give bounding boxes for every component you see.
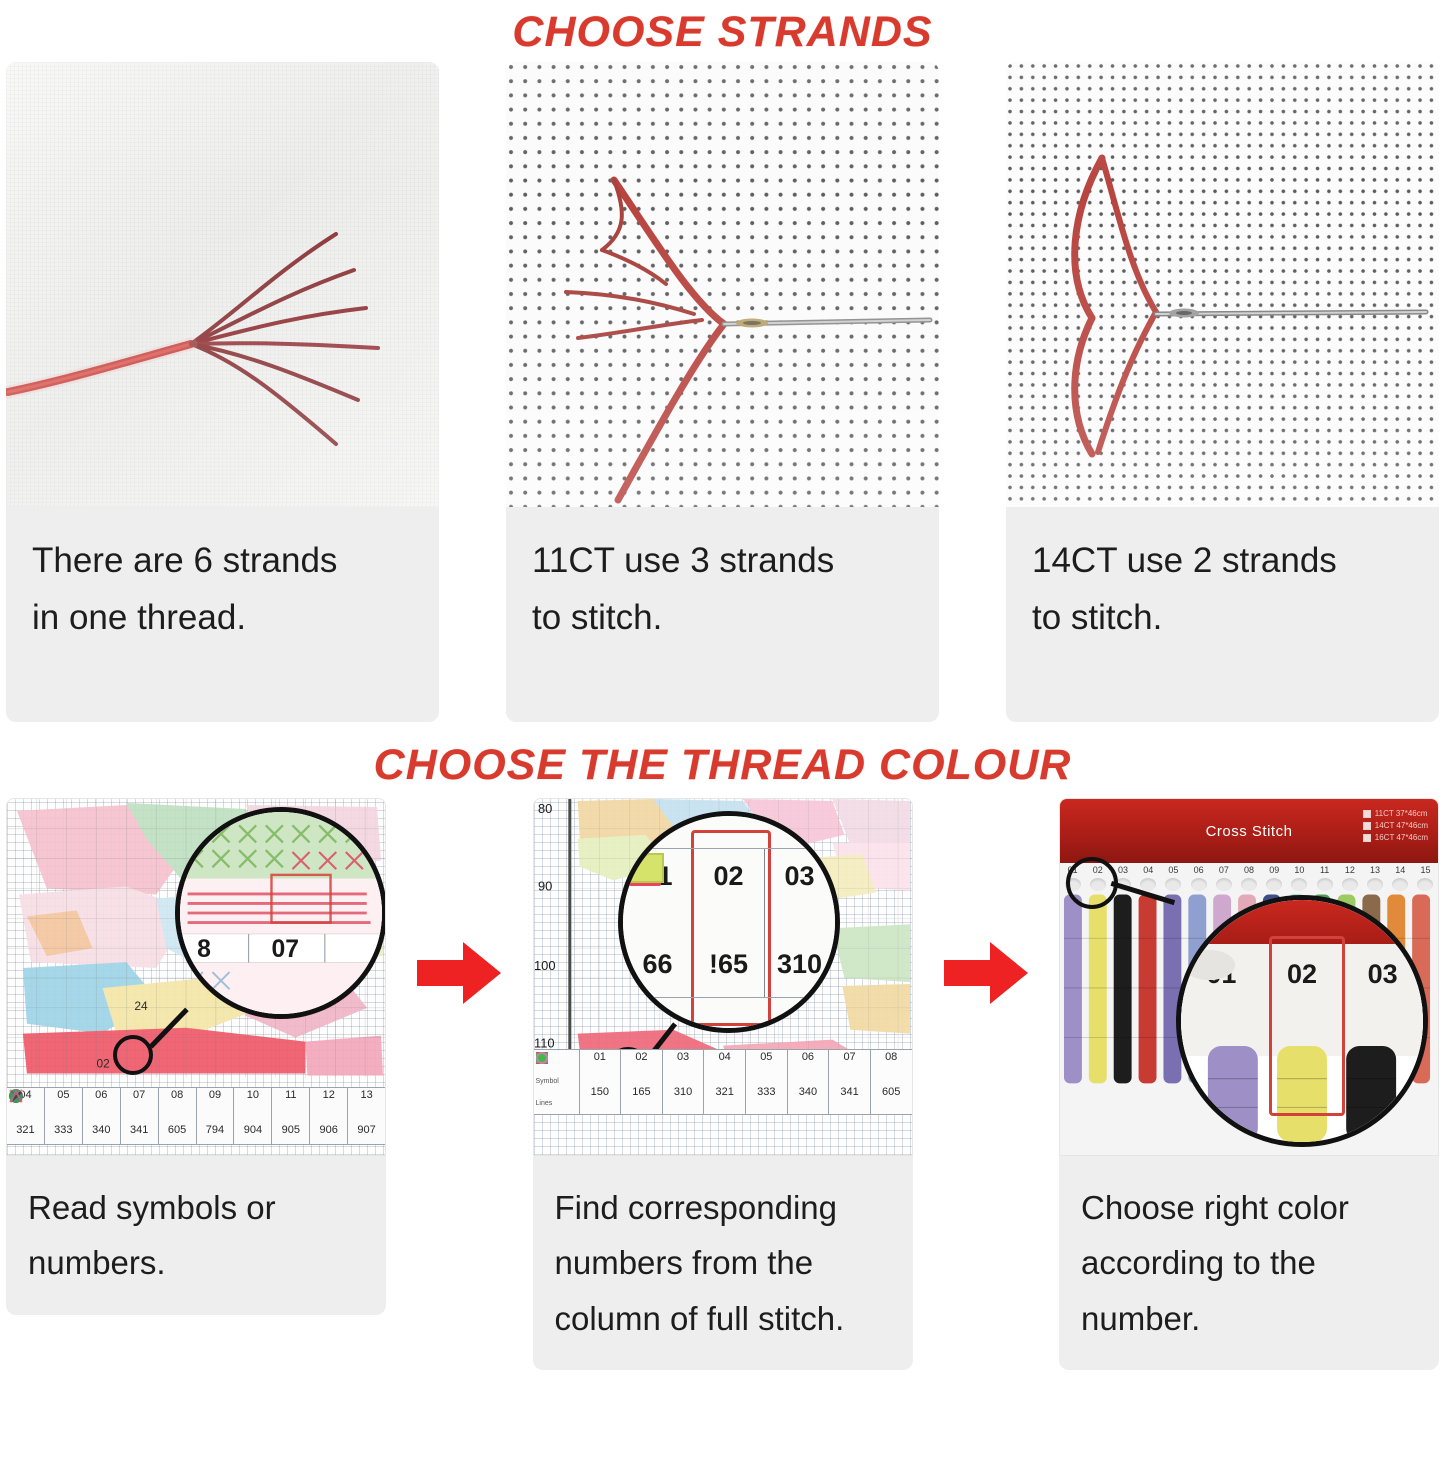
caption-14ct: 14CT use 2 strands to stitch. <box>1006 507 1439 722</box>
magnified-pattern-detail: 8 07 <box>180 812 382 1014</box>
magnifier-lens-symbols: 8 07 <box>175 807 386 1019</box>
photo-pattern-legend: 80 90 100 110 <box>533 798 913 1156</box>
caption-line: to stitch. <box>1032 590 1413 647</box>
caption-line: numbers. <box>28 1235 364 1290</box>
svg-text:24: 24 <box>134 999 148 1013</box>
photo-lighting-overlay <box>506 62 939 507</box>
legend-table-symbols: 04 321 05 333 06 340 07 341 <box>7 1087 385 1145</box>
legend-column: 08 605 <box>871 1050 912 1114</box>
caption-find-numbers: Find corresponding numbers from the colu… <box>533 1156 913 1370</box>
page-title-choose-thread-colour: CHOOSE THE THREAD COLOUR <box>0 722 1445 798</box>
photo-pattern-chart: 24 02 <box>6 798 386 1156</box>
highlight-box-thread-02 <box>1269 936 1345 1116</box>
caption-six-strands: There are 6 strands in one thread. <box>6 507 439 722</box>
step-card-choose-color: Cross Stitch 11CT 37*46cm 14CT 47*46cm 1… <box>1059 798 1439 1370</box>
svg-text:02: 02 <box>97 1056 111 1070</box>
caption-line: There are 6 strands <box>32 533 413 590</box>
step-card-find-numbers: 80 90 100 110 <box>533 798 913 1370</box>
svg-text:90: 90 <box>537 878 551 893</box>
step-card-14ct: 14CT use 2 strands to stitch. <box>1006 62 1439 722</box>
thread-colour-panel-row: 24 02 <box>0 798 1445 1418</box>
caption-line: numbers from the <box>555 1235 891 1290</box>
svg-text:100: 100 <box>534 958 556 973</box>
step-card-read-symbols: 24 02 <box>6 798 386 1315</box>
caption-line: to stitch. <box>532 590 913 647</box>
caption-line: in one thread. <box>32 590 413 647</box>
legend-column: 13 907 <box>348 1088 385 1144</box>
photo-lighting-overlay <box>6 62 439 507</box>
magnified-legend-cell: 03 310 <box>765 848 835 998</box>
caption-line: according to the <box>1081 1235 1417 1290</box>
step-card-six-strands: There are 6 strands in one thread. <box>6 62 439 722</box>
photo-thread-organiser: Cross Stitch 11CT 37*46cm 14CT 47*46cm 1… <box>1059 798 1439 1156</box>
magnifier-target-circle-symbols <box>113 1035 153 1075</box>
caption-line: Choose right color <box>1081 1180 1417 1235</box>
legend-table-numbers: No. Symbol Lines 01 150 02 165 03 <box>534 1049 912 1115</box>
photo-six-strands <box>6 62 439 507</box>
right-arrow-icon <box>942 938 1030 1008</box>
caption-line: Find corresponding <box>555 1180 891 1235</box>
right-arrow-icon <box>415 938 503 1008</box>
page-title-choose-strands: CHOOSE STRANDS <box>0 0 1445 62</box>
caption-line: number. <box>1081 1291 1417 1346</box>
caption-11ct: 11CT use 3 strands to stitch. <box>506 507 939 722</box>
magnifier-lens-threads: 01 02 03 <box>1176 895 1428 1147</box>
svg-text:8: 8 <box>197 936 211 963</box>
arrow-cell-2 <box>921 798 1051 1008</box>
svg-text:80: 80 <box>537 801 551 816</box>
caption-line: Read symbols or <box>28 1180 364 1235</box>
svg-text:07: 07 <box>271 936 299 963</box>
magnifier-lens-numbers: 01 66 02 !65 <box>618 811 840 1033</box>
caption-line: column of full stitch. <box>555 1291 891 1346</box>
photo-11ct <box>506 62 939 507</box>
arrow-cell-1 <box>394 798 524 1008</box>
step-card-11ct: 11CT use 3 strands to stitch. <box>506 62 939 722</box>
caption-choose-color: Choose right color according to the numb… <box>1059 1156 1439 1370</box>
strands-panel-row: There are 6 strands in one thread. <box>0 62 1445 722</box>
caption-line: 14CT use 2 strands <box>1032 533 1413 590</box>
caption-read-symbols: Read symbols or numbers. <box>6 1156 386 1315</box>
photo-lighting-overlay <box>1006 62 1439 507</box>
photo-14ct <box>1006 62 1439 507</box>
caption-line: 11CT use 3 strands <box>532 533 913 590</box>
